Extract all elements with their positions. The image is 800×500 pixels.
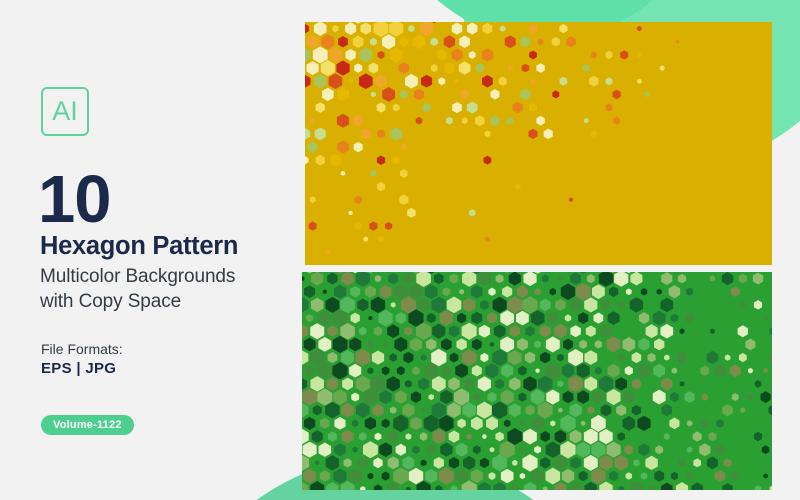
page-subtitle-line-2: with Copy Space xyxy=(40,289,235,314)
volume-badge: Volume-1122 xyxy=(41,415,134,435)
file-formats-label: File Formats: xyxy=(41,342,123,356)
promo-canvas: AI 10 Hexagon Pattern Multicolor Backgro… xyxy=(0,0,800,500)
adobe-illustrator-badge: AI xyxy=(41,87,89,136)
file-formats-value: EPS | JPG xyxy=(41,361,116,376)
page-title: Hexagon Pattern xyxy=(40,234,238,260)
yellow-hexagon-artwork xyxy=(305,22,772,265)
item-count: 10 xyxy=(38,166,111,233)
page-subtitle-line-1: Multicolor Backgrounds xyxy=(40,264,235,289)
volume-badge-label: Volume-1122 xyxy=(53,420,122,431)
page-subtitle: Multicolor Backgrounds with Copy Space xyxy=(40,264,235,315)
green-hexagon-artwork xyxy=(302,272,772,490)
preview-panel-yellow xyxy=(305,22,772,265)
adobe-illustrator-badge-label: AI xyxy=(52,98,78,125)
preview-panel-green xyxy=(302,272,772,490)
